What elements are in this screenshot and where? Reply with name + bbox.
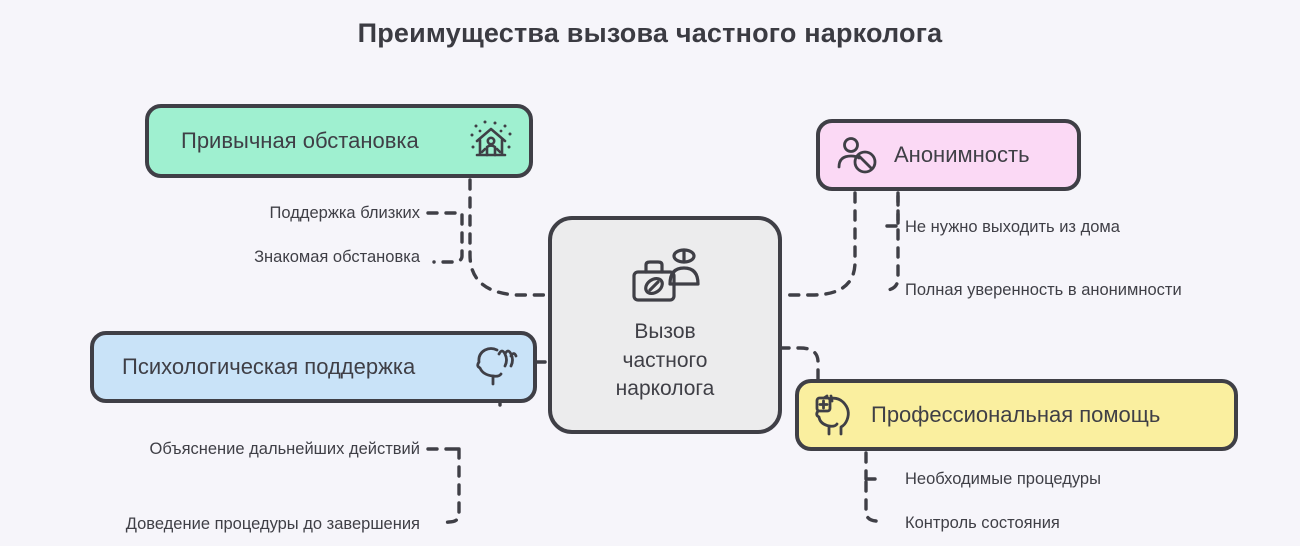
home-family-icon	[467, 117, 515, 165]
subitem-psych-1: Объяснение дальнейших действий	[60, 440, 420, 459]
subitem-psych-2: Доведение процедуры до завершения	[40, 515, 420, 534]
subitem-habitual-1: Поддержка близких	[180, 204, 420, 223]
branch-anonymity-label: Анонимность	[894, 142, 1030, 168]
branch-anonymity[interactable]: Анонимность	[816, 119, 1081, 191]
branch-habitual[interactable]: Привычная обстановка	[145, 104, 533, 178]
branch-habitual-label: Привычная обстановка	[181, 128, 419, 154]
branch-prof-label: Профессиональная помощь	[871, 402, 1160, 428]
connector-habitual-subs	[428, 213, 462, 262]
branch-psych-label: Психологическая поддержка	[122, 354, 415, 380]
subitem-prof-1: Необходимые процедуры	[905, 470, 1101, 489]
subitem-prof-2: Контроль состояния	[905, 514, 1060, 533]
mindmap-canvas: Преимущества вызова частного нарколога	[0, 0, 1300, 546]
branch-prof[interactable]: Профессиональная помощь	[795, 379, 1238, 451]
connector-habitual-center	[470, 180, 548, 295]
subitem-anonymity-1: Не нужно выходить из дома	[905, 218, 1120, 237]
connector-psych-subs	[428, 449, 459, 523]
connector-anonymity-subs	[880, 196, 898, 291]
connector-anonymity-center	[782, 193, 855, 295]
mind-head-icon	[471, 344, 519, 390]
branch-psych[interactable]: Психологическая поддержка	[90, 331, 537, 403]
center-node-label: Вызов частного нарколога	[616, 318, 715, 405]
doctor-bag-icon	[626, 246, 704, 308]
center-node[interactable]: Вызов частного нарколога	[548, 216, 782, 434]
page-title: Преимущества вызова частного нарколога	[0, 18, 1300, 49]
head-medical-cross-icon	[811, 392, 859, 438]
connector-prof-center	[782, 348, 818, 379]
subitem-anonymity-2: Полная уверенность в анонимности	[905, 281, 1182, 300]
subitem-habitual-2: Знакомая обстановка	[180, 248, 420, 267]
connector-prof-subs	[866, 453, 884, 522]
anonymous-person-icon	[834, 134, 880, 176]
